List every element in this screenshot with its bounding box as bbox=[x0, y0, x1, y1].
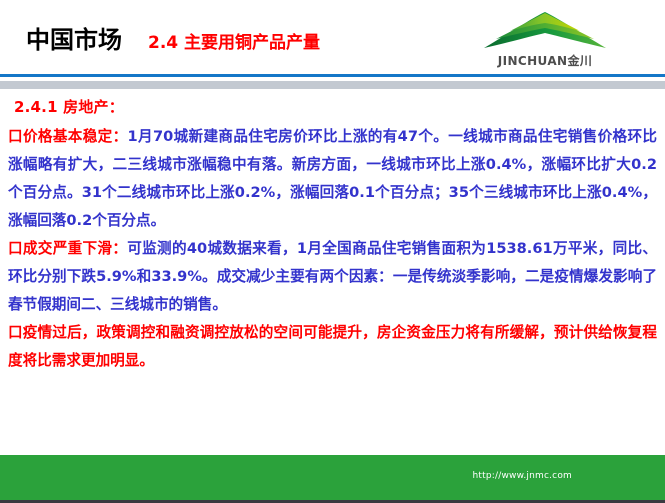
bullet-paragraph-2: 口成交严重下滑：可监测的40城数据来看，1月全国商品住宅销售面积为1538.61… bbox=[8, 235, 657, 319]
header-divider-gray bbox=[0, 81, 665, 89]
bullet-lead-2: 口成交严重下滑： bbox=[8, 240, 127, 257]
bullet-paragraph-3: 口疫情过后，政策调控和融资调控放松的空间可能提升，房企资金压力将有所缓解，预计供… bbox=[8, 319, 657, 375]
mountain-peak-icon bbox=[480, 8, 610, 52]
page-title: 中国市场 bbox=[26, 20, 122, 55]
brand-logo: JINCHUAN金川 bbox=[480, 8, 610, 70]
header-title-group: 中国市场 2.4 主要用铜产品产量 bbox=[26, 20, 320, 55]
footer-url-link[interactable]: http://www.jnmc.com bbox=[473, 471, 573, 481]
slide-footer: http://www.jnmc.com bbox=[0, 455, 665, 500]
slide-content: 2.4.1 房地产： 口价格基本稳定：1月70城新建商品住宅房价环比上涨的有47… bbox=[0, 96, 665, 446]
bullet-text-3: 口疫情过后，政策调控和融资调控放松的空间可能提升，房企资金压力将有所缓解，预计供… bbox=[8, 324, 657, 369]
section-heading: 2.4.1 房地产： bbox=[14, 96, 657, 117]
bullet-lead-1: 口价格基本稳定： bbox=[8, 128, 128, 145]
page-subtitle: 2.4 主要用铜产品产量 bbox=[148, 28, 320, 53]
slide-root: 中国市场 2.4 主要用铜产品产量 bbox=[0, 0, 665, 503]
slide-header: 中国市场 2.4 主要用铜产品产量 bbox=[0, 0, 665, 74]
bullet-paragraph-1: 口价格基本稳定：1月70城新建商品住宅房价环比上涨的有47个。一线城市商品住宅销… bbox=[8, 123, 657, 235]
logo-wordmark: JINCHUAN金川 bbox=[480, 52, 610, 69]
